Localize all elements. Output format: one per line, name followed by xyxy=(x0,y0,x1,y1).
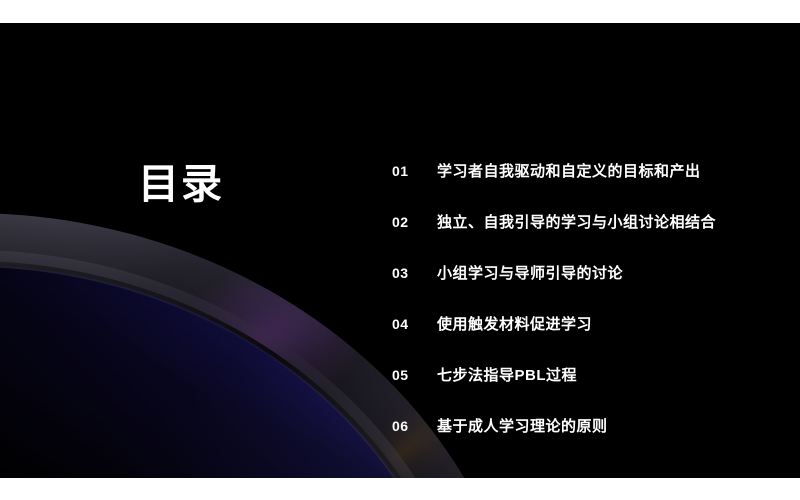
agenda-item-number: 05 xyxy=(392,367,437,383)
slide-canvas: 目录 01 学习者自我驱动和自定义的目标和产出 02 独立、自我引导的学习与小组… xyxy=(0,23,800,478)
agenda-item-number: 03 xyxy=(392,265,437,281)
agenda-item-number: 04 xyxy=(392,316,437,332)
agenda-item-label: 小组学习与导师引导的讨论 xyxy=(437,262,623,283)
agenda-item-number: 01 xyxy=(392,163,437,179)
agenda-item-05[interactable]: 05 七步法指导PBL过程 xyxy=(392,349,792,400)
presentation-stage: 目录 01 学习者自我驱动和自定义的目标和产出 02 独立、自我引导的学习与小组… xyxy=(0,0,800,500)
agenda-item-label: 独立、自我引导的学习与小组讨论相结合 xyxy=(437,211,716,232)
page-title: 目录 xyxy=(0,164,362,205)
agenda-item-label: 使用触发材料促进学习 xyxy=(437,313,592,334)
agenda-item-03[interactable]: 03 小组学习与导师引导的讨论 xyxy=(392,247,792,298)
agenda-item-label: 学习者自我驱动和自定义的目标和产出 xyxy=(437,160,701,181)
agenda-item-01[interactable]: 01 学习者自我驱动和自定义的目标和产出 xyxy=(392,145,792,196)
agenda-item-number: 02 xyxy=(392,214,437,230)
agenda-item-label: 七步法指导PBL过程 xyxy=(437,364,577,385)
agenda-item-02[interactable]: 02 独立、自我引导的学习与小组讨论相结合 xyxy=(392,196,792,247)
agenda-item-label: 基于成人学习理论的原则 xyxy=(437,415,608,436)
agenda-item-number: 06 xyxy=(392,418,437,434)
agenda-item-04[interactable]: 04 使用触发材料促进学习 xyxy=(392,298,792,349)
agenda-list: 01 学习者自我驱动和自定义的目标和产出 02 独立、自我引导的学习与小组讨论相… xyxy=(392,145,792,451)
agenda-item-06[interactable]: 06 基于成人学习理论的原则 xyxy=(392,400,792,451)
